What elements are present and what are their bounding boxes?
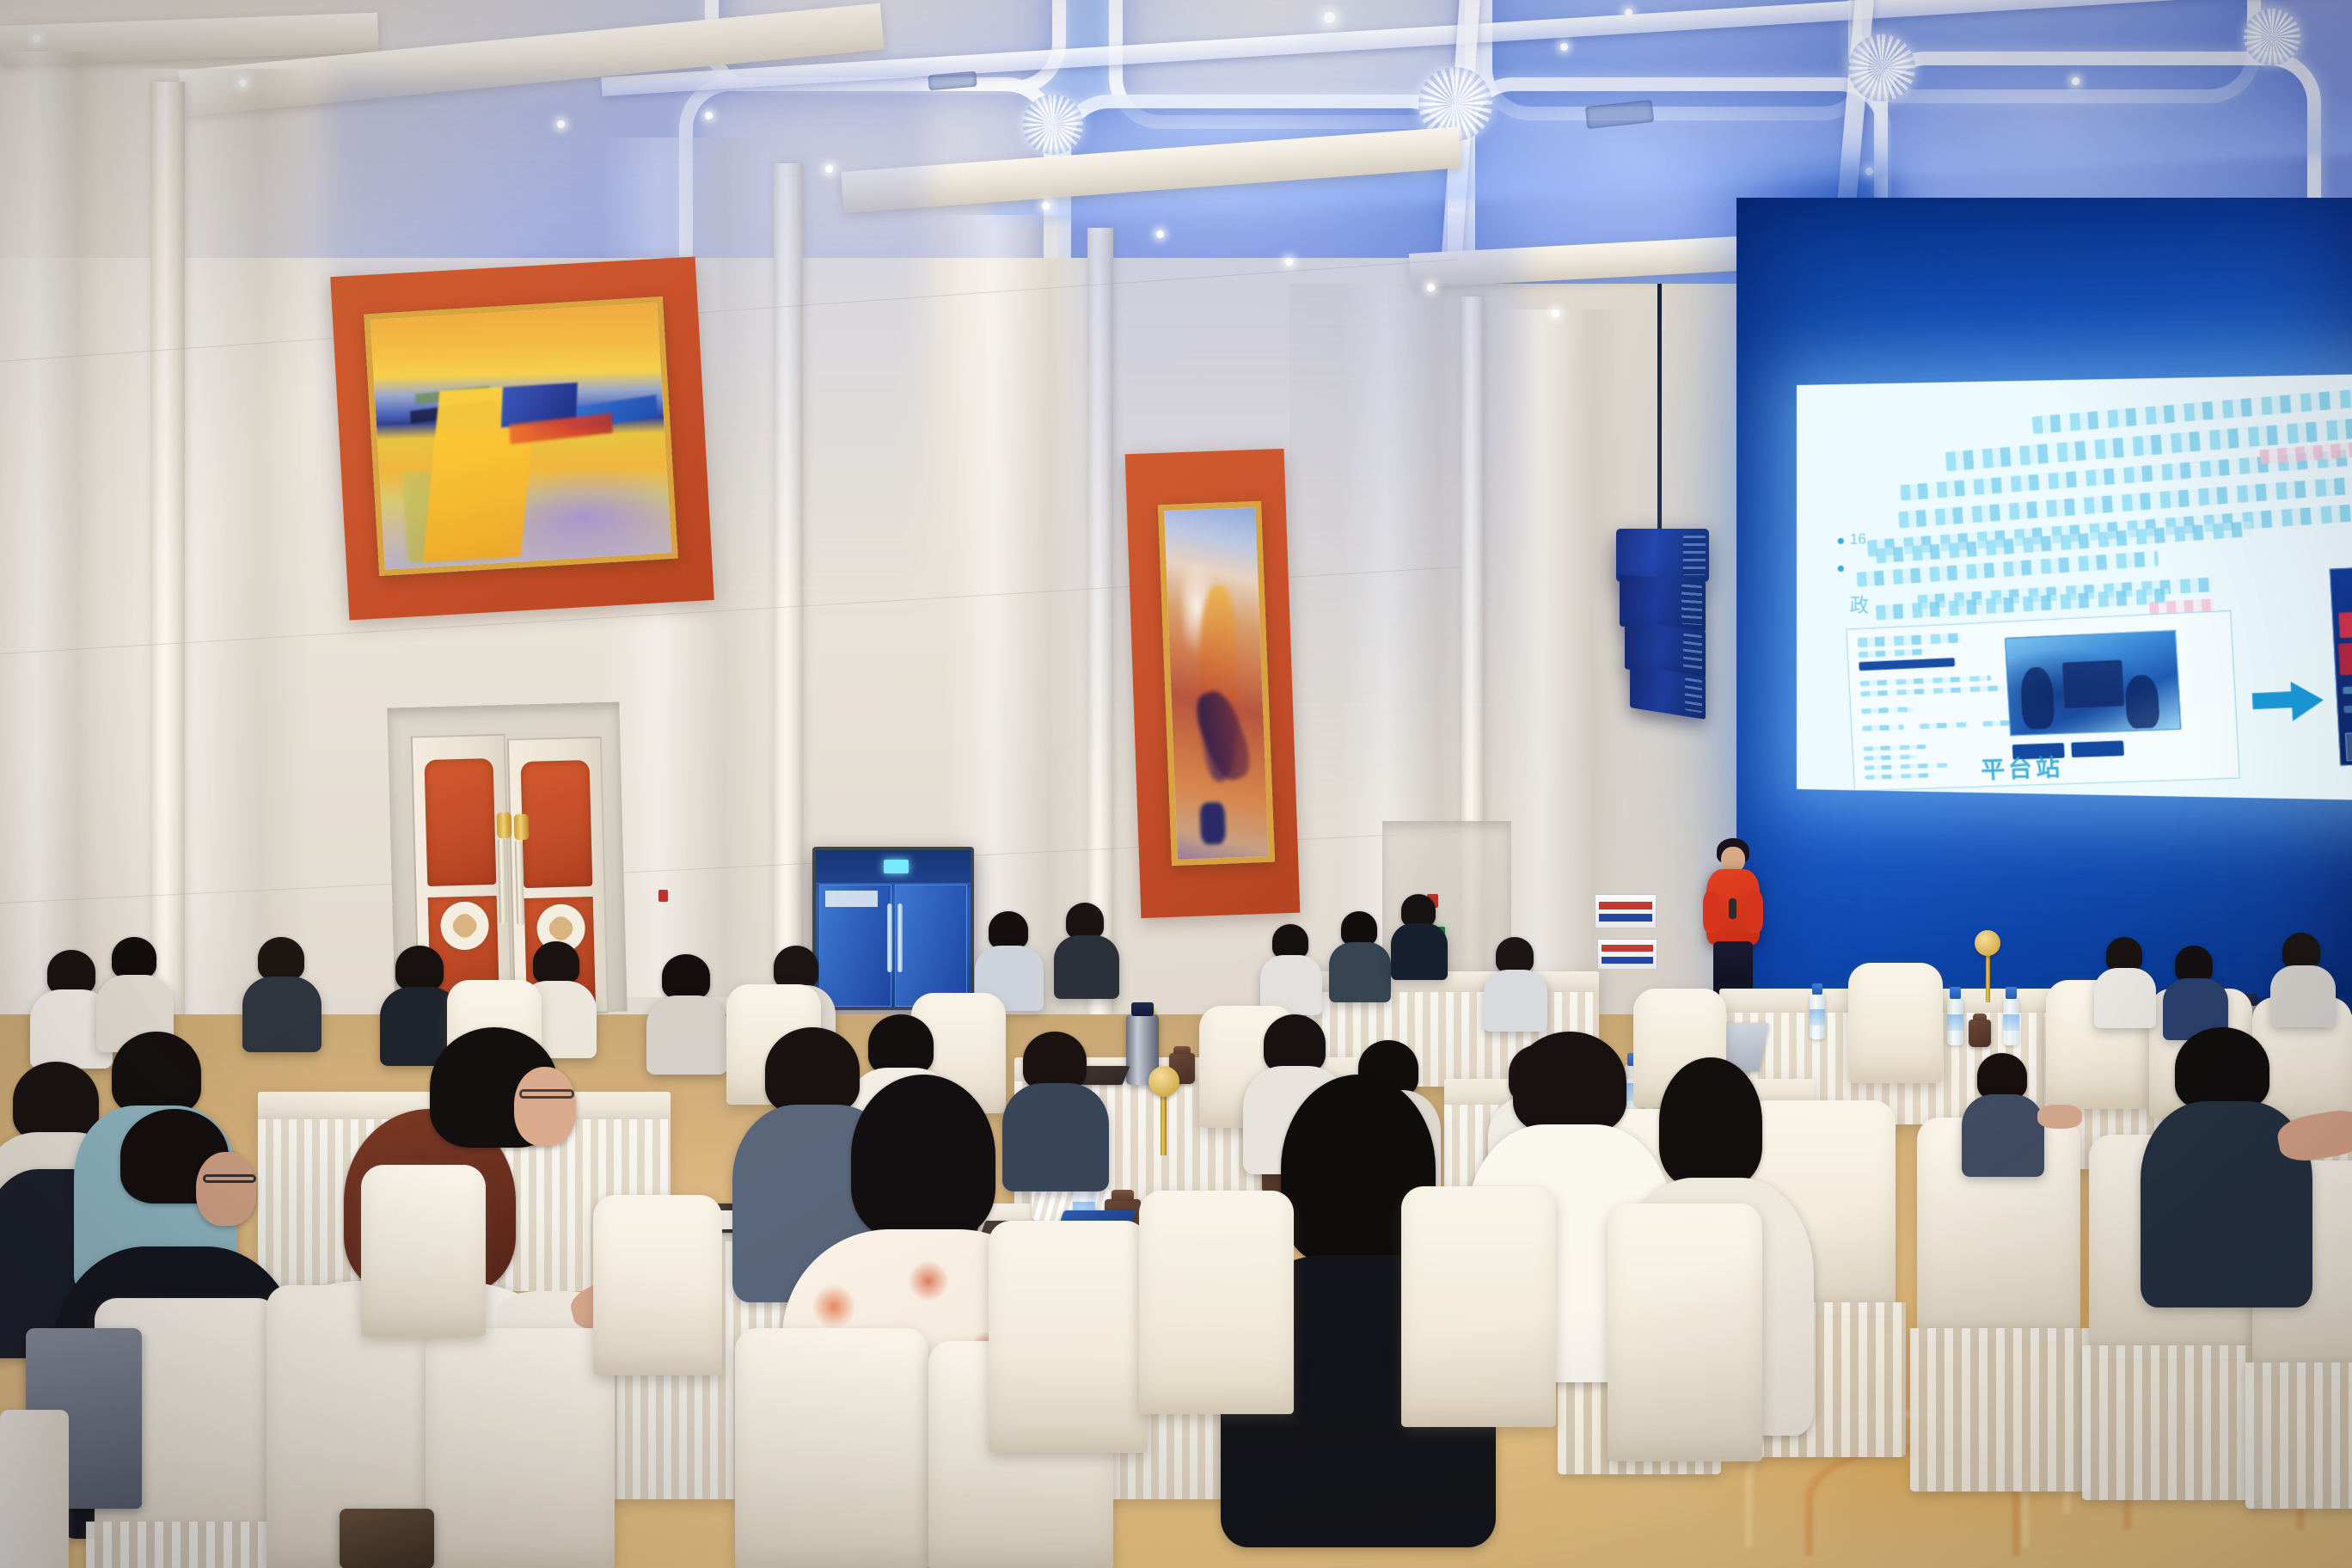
ceiling-rosette [2244,9,2300,65]
wall-downlight [1552,309,1559,317]
person-hair [1341,911,1377,946]
app-banner-secondary [2338,640,2352,675]
water-bottle [1810,993,1825,1039]
card-list-line [1864,755,1918,761]
slide-flow-arrow [2291,680,2325,721]
person-torso [1484,970,1547,1032]
person-hair [1977,1053,2027,1099]
card-stat-line [1862,725,1904,732]
bottle-cap [2006,987,2017,999]
presenter-arm-right [1746,891,1763,933]
refrigerator-display [884,860,909,873]
person-head [196,1152,256,1226]
person-hair [662,954,710,999]
foreground-chair-back [0,1410,69,1568]
plaque-blue-band [1602,957,1653,964]
eyeglasses [203,1174,256,1183]
table-number-plate [1148,1066,1179,1097]
bottle-label [1947,1014,1963,1031]
person-hair [2175,1027,2269,1110]
app-banner-primary [2338,609,2352,637]
app-content-line [2343,683,2352,694]
person-hair [47,950,95,995]
table-number-stand [1161,1093,1167,1155]
wall-panel [112,69,309,1014]
photo-person [2019,666,2055,729]
person-hair [13,1062,99,1141]
person-torso [1329,942,1391,1002]
refrigerator-handle[interactable] [897,903,903,972]
person-hair [765,1027,860,1113]
banquet-chair-foreground[interactable] [426,1328,615,1568]
wall-downlight [1285,258,1293,266]
notice-board-top [1595,894,1657,928]
speaker-suspension-cable [1657,284,1662,533]
water-bottle [1947,997,1963,1045]
ceiling-downlight [1625,9,1632,16]
table-number-stand [1986,952,1990,1002]
presenter-microphone [1729,898,1736,919]
wall-downlight [825,165,833,173]
person-hair [1066,903,1104,939]
conference-hall-photo: 16 政 [0,0,2352,1568]
person-hair [1264,1014,1326,1073]
wall-downlight [239,79,247,87]
door-handle-knob[interactable] [514,814,530,840]
banquet-chair-skirt [2245,1363,2352,1509]
person-hair [989,911,1028,949]
person-torso [2094,968,2156,1028]
person-hair [1272,924,1308,959]
wall-downlight [33,34,40,42]
slide-caption: 平台站 [1980,748,2064,785]
banquet-chair-skirt [1910,1328,2091,1491]
thermos-cap [1131,1002,1154,1016]
banquet-chair-foreground[interactable] [735,1328,928,1568]
wall-panel [0,52,103,1014]
banquet-chair-foreground[interactable] [989,1221,1148,1453]
plaque-red-band [1599,902,1652,910]
refrigerator-door-right[interactable] [895,885,968,1007]
person-torso [2270,965,2336,1027]
photo-person [2124,674,2159,728]
tea-cup [1969,1020,1991,1047]
app-bottom-card [2345,730,2352,760]
person-torso [1002,1083,1109,1191]
person-hair [1496,937,1534,973]
table-number-plate [1975,930,2000,956]
banquet-chair-foreground[interactable] [1401,1186,1556,1427]
ceiling-downlight [2072,77,2079,85]
person-head [514,1067,576,1146]
person-hair [112,1032,201,1114]
water-bottle [2003,997,2019,1045]
person-hair [851,1075,995,1238]
person-torso [1962,1094,2044,1177]
person-torso [1054,935,1119,999]
person-hair [868,1014,934,1075]
person-hair [1023,1032,1087,1090]
bottle-cap [1950,987,1961,999]
door-panel [424,758,496,887]
slide-meeting-photo [2005,630,2181,737]
presenter-arm-left [1703,891,1720,933]
artwork-brushstroke [1199,802,1227,845]
plaque-blue-band [1599,914,1652,922]
person-hair [2106,937,2142,971]
person-hair [2175,946,2213,982]
person-torso [242,977,322,1052]
ceiling-rosette [1023,95,1083,155]
card-body-line [1860,685,2009,696]
person-hair [258,937,304,980]
refrigerator-handle[interactable] [887,903,892,972]
person-torso [1391,923,1448,980]
handbag [340,1509,434,1568]
wall-switch-plate [658,890,668,902]
card-meta-line [1859,658,1955,671]
card-stat-line [1920,722,1969,729]
wall-pilaster [150,82,185,1019]
eyeglasses [519,1089,574,1099]
card-body-line [1861,707,1914,714]
banquet-chair[interactable] [361,1165,486,1337]
artwork-landscape [364,297,677,576]
wall-downlight [1156,230,1164,238]
photo-monitor [2062,660,2124,708]
person-hair [1513,1032,1626,1133]
person-hair [2282,933,2320,969]
refrigerator-label [825,891,878,906]
banquet-chair-skirt [2082,1345,2263,1500]
person-hair [395,946,444,990]
person-hair [1401,894,1436,927]
notice-board-bottom [1597,939,1657,970]
banquet-chair-skirt [86,1522,288,1568]
wall-downlight [1427,284,1435,291]
slide-bullet-marker [1838,538,1844,544]
banquet-chair[interactable] [1848,963,1943,1083]
wall-downlight [557,120,565,128]
artwork-vertical [1158,501,1275,866]
app-content-line [2343,703,2352,713]
person-torso [646,995,727,1075]
slide-mobile-app-mockup [2330,564,2352,766]
banquet-chair-foreground[interactable] [1139,1191,1294,1414]
person-hair [774,946,818,989]
card-meta-line [1859,648,1928,658]
person-hair [533,941,579,984]
wall-downlight [705,112,713,119]
person-hair [112,937,156,978]
person-arm [2037,1105,2082,1129]
card-list-line [1865,773,1938,780]
bottle-cap [1812,983,1822,995]
banquet-chair[interactable] [593,1195,722,1375]
slide-secondary-button[interactable] [2071,741,2124,758]
banquet-chair-foreground[interactable] [1608,1204,1762,1461]
card-list-line [1865,763,1948,769]
card-body-line [1859,676,1991,687]
slide-left-marker-2: 政 [1850,590,1869,617]
projection-screen: 16 政 [1797,373,2352,801]
slide-bullet-marker [1838,566,1844,572]
ceiling-downlight [1324,12,1335,23]
bottle-label [1810,1009,1825,1025]
card-list-line [1863,744,1926,751]
plaque-red-band [1602,945,1653,952]
person-hair [1659,1057,1762,1186]
wall-downlight [1042,202,1050,210]
ceiling-downlight [1560,43,1568,51]
beverage-refrigerator[interactable] [812,847,974,1010]
door-handle-knob[interactable] [497,812,512,838]
slide-left-marker-1: 16 [1850,531,1866,548]
ceiling-rosette [1848,34,1915,101]
bottle-label [2003,1014,2019,1031]
slide-flow-arrow-tail [2252,691,2294,709]
door-panel [520,760,592,887]
card-title-line [1858,633,1963,647]
